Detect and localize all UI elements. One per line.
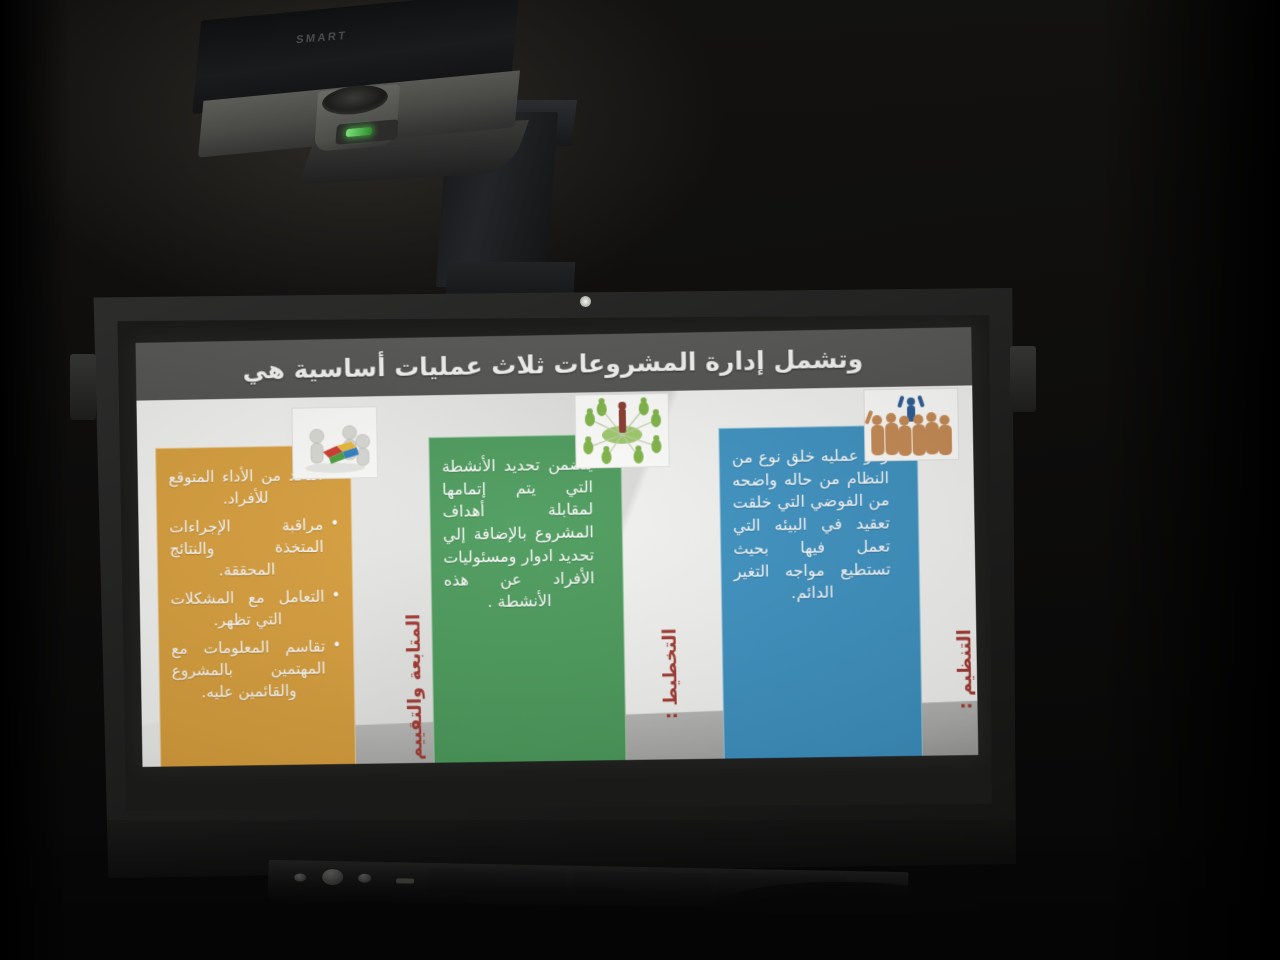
- pen-tray-button-2[interactable]: [322, 869, 344, 885]
- pen-tray-button-3[interactable]: [358, 874, 371, 883]
- room-vignette-left: [0, 0, 70, 960]
- slide-title: وتشمل إدارة المشروعات ثلاث عمليات أساسية…: [242, 344, 863, 385]
- list-item: وهو عمليه خلق نوع من النظام من حاله واضح…: [731, 444, 907, 606]
- list-item: يتضمن تحديد الأنشطة التي يتم إتمامها لمق…: [441, 453, 610, 615]
- crowd-with-leader-icon: [863, 388, 959, 462]
- ceiling-projector: SMART: [196, 0, 626, 300]
- list-item: تقاسم المعلومات مع المهتمين بالمشروع وال…: [171, 635, 342, 703]
- side-label-monitoring: المتابعة والتقييم :: [404, 614, 428, 767]
- three-figures-assembling-puzzle-icon: [291, 406, 378, 479]
- pen-tray-lip: [465, 892, 645, 906]
- list-item: التعامل مع المشكلات التي تظهر.: [170, 585, 341, 632]
- classroom-scene: SMART وتشمل إدارة المشروعات ثلاث عمليات …: [0, 0, 1280, 960]
- slide-body: التأكد من الأداء المتوقع للأفراد. مراقبة…: [136, 385, 978, 767]
- network-hub-figures-icon: [574, 393, 669, 469]
- side-label-organizing: التنظيم :: [953, 629, 976, 710]
- pen-tray-slot-1[interactable]: [428, 868, 567, 895]
- list-item: مراقبة الإجراءات المتخذة والنتائج المحقق…: [169, 514, 340, 583]
- pen-tray-led-icon: [396, 878, 414, 883]
- bullet-list-organizing: وهو عمليه خلق نوع من النظام من حاله واضح…: [731, 444, 907, 606]
- room-vignette-right: [1100, 0, 1280, 960]
- bullet-list-monitoring: التأكد من الأداء المتوقع للأفراد. مراقبة…: [168, 464, 342, 704]
- slide-column-monitoring: التأكد من الأداء المتوقع للأفراد. مراقبة…: [155, 445, 357, 768]
- slide-column-organizing: وهو عمليه خلق نوع من النظام من حاله واضح…: [718, 424, 923, 767]
- whiteboard-status-dot-icon: [580, 296, 591, 307]
- slide-column-planning: يتضمن تحديد الأنشطة التي يتم إتمامها لمق…: [428, 434, 627, 767]
- pen-tray-slot-3[interactable]: [718, 874, 847, 900]
- whiteboard-mount-tab-right: [1010, 346, 1036, 412]
- pen-tray-button-1[interactable]: [294, 873, 306, 881]
- whiteboard-pen-tray[interactable]: [267, 860, 908, 912]
- interactive-whiteboard[interactable]: وتشمل إدارة المشروعات ثلاث عمليات أساسية…: [88, 288, 1016, 878]
- bullet-list-planning: يتضمن تحديد الأنشطة التي يتم إتمامها لمق…: [441, 453, 610, 615]
- slide-columns: التأكد من الأداء المتوقع للأفراد. مراقبة…: [136, 385, 978, 767]
- whiteboard-surface[interactable]: وتشمل إدارة المشروعات ثلاث عمليات أساسية…: [114, 315, 992, 811]
- projected-slide: وتشمل إدارة المشروعات ثلاث عمليات أساسية…: [135, 327, 978, 767]
- side-label-planning: التخطيط :: [659, 628, 682, 719]
- whiteboard-mount-tab-left: [70, 354, 96, 420]
